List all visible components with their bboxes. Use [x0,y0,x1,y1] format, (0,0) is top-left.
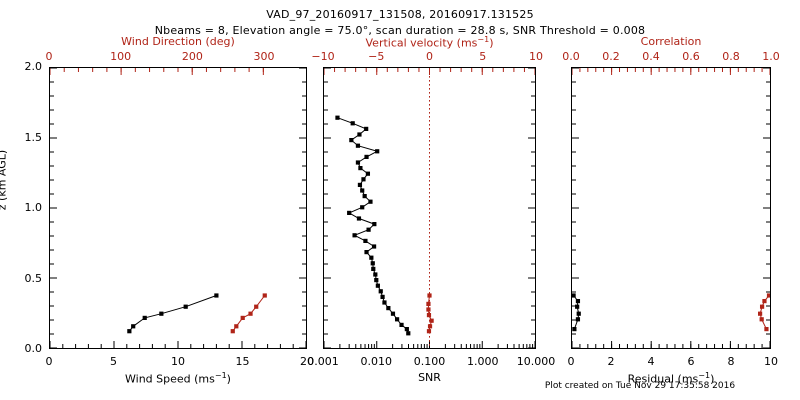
figure-title: VAD_97_20160917_131508, 20160917.131525 [0,8,800,21]
x-tick-label-top: 0 [46,50,53,63]
x-tick-label-top: 5 [479,50,486,63]
plot-area-snr [324,68,535,348]
x-axis-title-residual: Residual (ms−1) [628,371,715,386]
x-tick-label-bottom: 8 [728,355,735,368]
y-tick-label: 0.0 [25,342,43,355]
y-tick-label: 1.0 [25,201,43,214]
series-residual [572,293,581,331]
y-axis-label-text: z (km AGL) [0,150,9,210]
y-tick-label: 0.5 [25,272,43,285]
x-tick-label-bottom: 6 [688,355,695,368]
panel-wind-speed-direction [49,67,307,349]
x-tick-label-bottom: 0 [568,355,575,368]
x-tick-label-bottom: 0.010 [361,355,393,368]
x-tick-label-bottom: 10 [171,355,185,368]
series-vertical-velocity [426,293,433,333]
y-tick-label: 2.0 [25,60,43,73]
x-axis-title-snr: SNR [418,371,441,384]
x-axis-title-wind-speed: Wind Speed (ms−1) [125,371,231,386]
x-tick-label-bottom: 15 [236,355,250,368]
panel-residual-correlation [571,67,771,349]
x-tick-label-bottom: 0.001 [307,355,339,368]
x-tick-label-bottom: 10 [764,355,778,368]
x-tick-label-top: 0.0 [562,50,580,63]
y-axis-label: z (km AGL) [0,150,9,210]
x-tick-label-bottom: 10.000 [517,355,556,368]
x-tick-label-top: 10 [529,50,543,63]
x-tick-label-bottom: 5 [110,355,117,368]
x-tick-label-top: 200 [182,50,203,63]
x-axis-title-correlation: Correlation [641,35,702,48]
x-tick-label-top: 100 [110,50,131,63]
x-tick-label-top: 0.4 [642,50,660,63]
x-tick-label-top: 0.6 [682,50,700,63]
x-axis-title-vertical-velocity: Vertical velocity (ms−1) [366,35,494,50]
x-tick-label-bottom: 0 [46,355,53,368]
x-tick-label-top: −5 [368,50,384,63]
series-wind-speed [127,293,218,333]
series-snr [335,116,410,336]
x-tick-label-bottom: 2 [608,355,615,368]
x-tick-label-bottom: 0.100 [414,355,446,368]
x-tick-label-bottom: 1.000 [467,355,499,368]
plot-area-wind [50,68,306,348]
x-tick-label-bottom: 4 [648,355,655,368]
x-tick-label-top: 0 [426,50,433,63]
x-tick-label-top: 0.8 [722,50,740,63]
panel-snr-vertical-velocity [323,67,536,349]
x-tick-label-top: 0.2 [602,50,620,63]
x-tick-label-top: 300 [254,50,275,63]
y-tick-label: 1.5 [25,131,43,144]
x-tick-label-top: 1.0 [762,50,780,63]
x-tick-label-top: −10 [311,50,334,63]
series-wind-direction [231,293,267,333]
series-correlation [758,293,770,331]
plot-area-correlation [572,68,770,348]
figure-root: VAD_97_20160917_131508, 20160917.131525 … [0,0,800,400]
x-axis-title-wind-direction: Wind Direction (deg) [121,35,235,48]
